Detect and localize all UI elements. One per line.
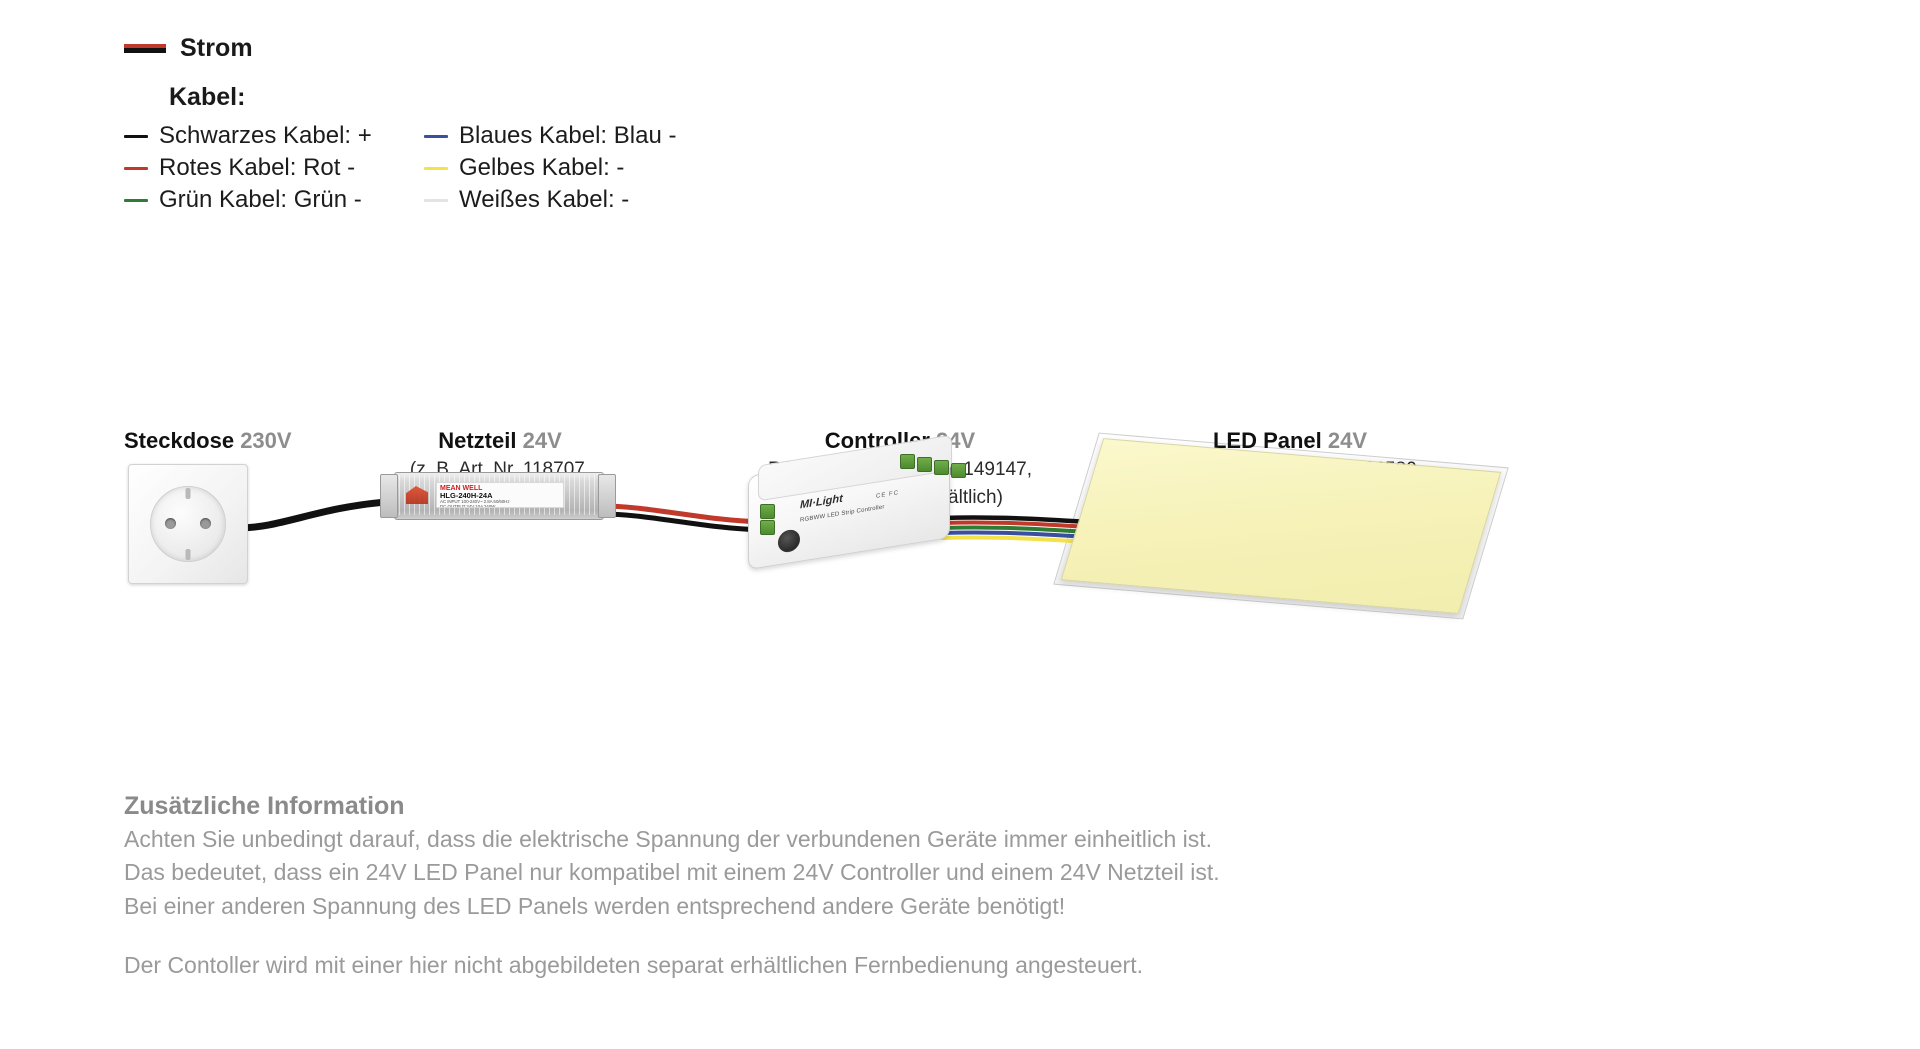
info-line-1: Achten Sie unbedingt darauf, dass die el… bbox=[124, 823, 1544, 856]
socket-earth-clip-bottom bbox=[186, 549, 191, 560]
psu-endcap-left bbox=[380, 474, 398, 518]
socket-pin-hole-left bbox=[165, 518, 176, 529]
legend-label-yellow-cable: Gelbes Kabel: - bbox=[459, 154, 624, 182]
black-cable-swatch bbox=[124, 135, 148, 138]
cables-title: Kabel: bbox=[169, 83, 724, 112]
power-line-swatch bbox=[124, 44, 166, 53]
legend-item-black-cable: Schwarzes Kabel: + bbox=[124, 120, 424, 152]
controller-terminal-1 bbox=[900, 454, 915, 469]
info-line-3: Bei einer anderen Spannung des LED Panel… bbox=[124, 890, 1544, 923]
power-supply-unit: MEAN WELL HLG-240H-24A AC INPUT 100-240V… bbox=[380, 472, 616, 518]
socket-face bbox=[150, 486, 226, 562]
blue-cable-swatch bbox=[424, 135, 448, 138]
legend-item-white-cable: Weißes Kabel: - bbox=[424, 184, 724, 216]
legend-label-white-cable: Weißes Kabel: - bbox=[459, 186, 629, 214]
controller-input-terminal-2 bbox=[760, 520, 775, 535]
psu-endcap-right bbox=[598, 474, 616, 518]
yellow-cable-swatch bbox=[424, 167, 448, 170]
legend-item-red-cable: Rotes Kabel: Rot - bbox=[124, 152, 424, 184]
psu-spec-label: MEAN WELL HLG-240H-24A AC INPUT 100-240V… bbox=[436, 482, 564, 508]
legend-label-green-cable: Grün Kabel: Grün - bbox=[159, 186, 362, 214]
power-label: Strom bbox=[180, 34, 253, 63]
device-voltage-netzteil: 24V bbox=[523, 428, 562, 453]
device-name-steckdose: Steckdose bbox=[124, 428, 234, 453]
legend-label-blue-cable: Blaues Kabel: Blau - bbox=[459, 122, 676, 150]
psu-spec-line-2: DC OUTPUT 24V 10A 240W bbox=[440, 505, 560, 508]
wall-socket bbox=[128, 464, 248, 584]
info-line-4: Der Contoller wird mit einer hier nicht … bbox=[124, 949, 1544, 982]
controller-terminal-2 bbox=[917, 457, 932, 472]
legend: Strom Kabel: Schwarzes Kabel: + Blaues K… bbox=[124, 34, 724, 216]
caption-steckdose: Steckdose 230V bbox=[124, 428, 324, 454]
red-cable-swatch bbox=[124, 167, 148, 170]
legend-item-yellow-cable: Gelbes Kabel: - bbox=[424, 152, 724, 184]
legend-item-green-cable: Grün Kabel: Grün - bbox=[124, 184, 424, 216]
device-voltage-steckdose: 230V bbox=[240, 428, 291, 453]
info-line-2: Das bedeutet, dass ein 24V LED Panel nur… bbox=[124, 856, 1544, 889]
led-panel-light-surface bbox=[1061, 438, 1502, 614]
cable-legend-grid: Schwarzes Kabel: + Blaues Kabel: Blau - … bbox=[124, 120, 724, 216]
led-controller: MI·Light RGBWW LED Strip Controller CE F… bbox=[748, 448, 960, 560]
controller-terminal-4 bbox=[951, 463, 966, 478]
white-cable-swatch bbox=[424, 199, 448, 202]
additional-information: Zusätzliche Information Achten Sie unbed… bbox=[124, 792, 1544, 982]
controller-terminal-3 bbox=[934, 460, 949, 475]
socket-pin-hole-right bbox=[200, 518, 211, 529]
device-voltage-led-panel: 24V bbox=[1328, 428, 1367, 453]
caption-title-netzteil: Netzteil 24V bbox=[330, 428, 670, 454]
legend-label-black-cable: Schwarzes Kabel: + bbox=[159, 122, 372, 150]
legend-item-blue-cable: Blaues Kabel: Blau - bbox=[424, 120, 724, 152]
device-name-netzteil: Netzteil bbox=[438, 428, 516, 453]
controller-input-terminal-1 bbox=[760, 504, 775, 519]
wire-psu-to-controller bbox=[600, 480, 770, 550]
green-cable-swatch bbox=[124, 199, 148, 202]
legend-label-red-cable: Rotes Kabel: Rot - bbox=[159, 154, 355, 182]
led-panel bbox=[1082, 455, 1478, 595]
legend-power-row: Strom bbox=[124, 34, 724, 63]
caption-title-steckdose: Steckdose 230V bbox=[124, 428, 324, 454]
socket-earth-clip-top bbox=[186, 488, 191, 499]
diagram-canvas: Strom Kabel: Schwarzes Kabel: + Blaues K… bbox=[0, 0, 1920, 1049]
info-title: Zusätzliche Information bbox=[124, 792, 1544, 821]
